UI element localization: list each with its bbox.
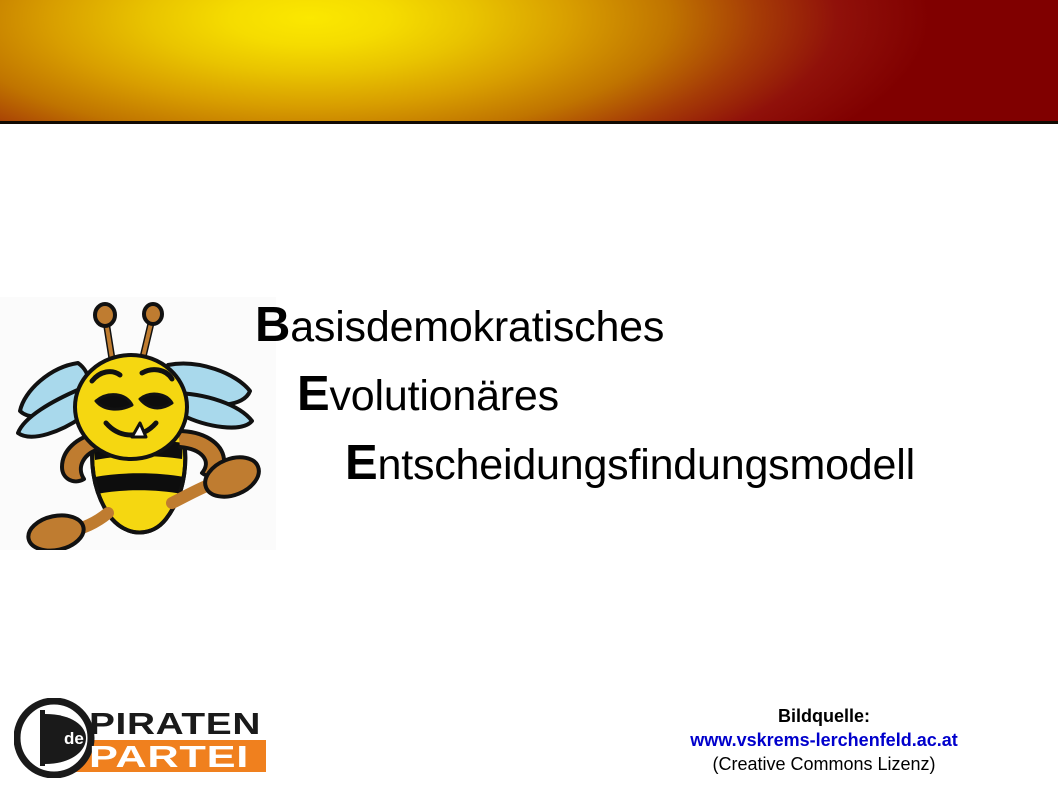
slide-title-block: Basisdemokratisches Evolutionäres Entsch… <box>250 292 1040 499</box>
title-line-2-rest: volutionäres <box>329 372 558 420</box>
title-line-1-rest: asisdemokratisches <box>290 303 664 351</box>
cartoon-bee-illustration <box>0 297 276 550</box>
title-line-1-capital: B <box>255 298 290 352</box>
title-line-3-rest: ntscheidungsfindungsmodell <box>377 441 914 489</box>
header-gradient-banner <box>0 0 1058 123</box>
title-line-basisdemokratisches: Basisdemokratisches <box>255 292 1040 361</box>
title-line-2-capital: E <box>297 367 329 421</box>
title-line-entscheidungsfindungsmodell: Entscheidungsfindungsmodell <box>345 430 1040 499</box>
credit-source-url[interactable]: www.vskrems-lerchenfeld.ac.at <box>614 728 1034 752</box>
logo-emblem-text: de <box>64 729 84 748</box>
credit-license-note: (Creative Commons Lizenz) <box>614 752 1034 776</box>
piratenpartei-logo: de PIRATEN PARTEI <box>14 698 266 778</box>
presentation-slide: Basisdemokratisches Evolutionäres Entsch… <box>0 0 1058 794</box>
credit-label: Bildquelle: <box>614 704 1034 728</box>
logo-word-partei: PARTEI <box>89 739 249 774</box>
logo-word-piraten: PIRATEN <box>89 706 261 741</box>
image-credit-block: Bildquelle: www.vskrems-lerchenfeld.ac.a… <box>614 704 1034 776</box>
title-line-3-capital: E <box>345 436 377 490</box>
header-divider-rule <box>0 121 1058 124</box>
title-line-evolutionaeres: Evolutionäres <box>297 361 1040 430</box>
